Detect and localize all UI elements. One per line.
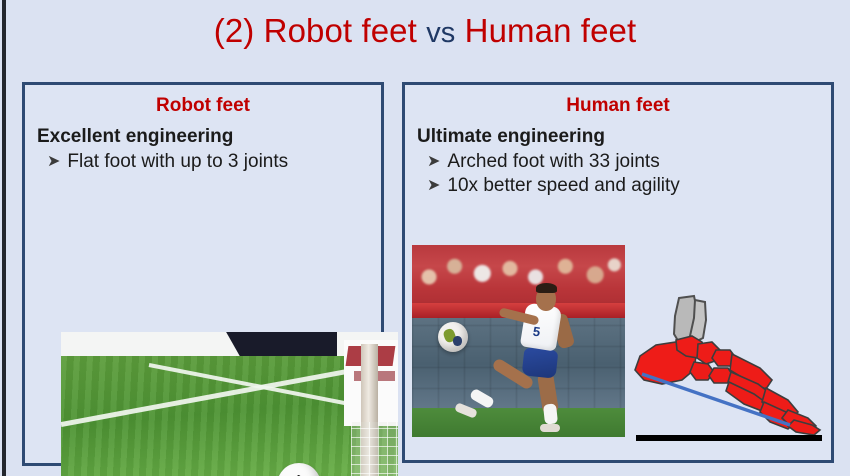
panel-human-heading: Human feet bbox=[405, 95, 831, 117]
arrow-bullet-icon: ➤ bbox=[47, 154, 60, 170]
panel-robot-subheading: Excellent engineering bbox=[37, 126, 381, 148]
slide-edge-strip bbox=[2, 0, 6, 476]
goal-net bbox=[351, 422, 398, 476]
title-vs: vs bbox=[426, 17, 455, 49]
player-boot-back bbox=[540, 424, 560, 432]
panel-robot-heading: Robot feet bbox=[25, 95, 381, 117]
list-item: ➤ Flat foot with up to 3 joints bbox=[47, 151, 381, 173]
robot-soccer-photo bbox=[61, 332, 398, 476]
list-item-label: Arched foot with 33 joints bbox=[447, 151, 659, 173]
foot-skeleton-diagram bbox=[632, 292, 828, 448]
phalanx-bones bbox=[760, 388, 820, 435]
soccer-player-photo: 5 bbox=[412, 245, 625, 437]
panel-robot-feet: Robot feet Excellent engineering ➤ Flat … bbox=[22, 82, 384, 466]
arrow-bullet-icon: ➤ bbox=[427, 178, 440, 194]
human-bullet-list: ➤ Arched foot with 33 joints ➤ 10x bette… bbox=[405, 151, 831, 197]
list-item: ➤ Arched foot with 33 joints bbox=[427, 151, 831, 173]
title-prefix: (2) Robot feet bbox=[214, 12, 426, 49]
arrow-bullet-icon: ➤ bbox=[427, 154, 440, 170]
player-sock-back bbox=[543, 404, 558, 425]
page-title: (2) Robot feet vs Human feet bbox=[0, 12, 850, 50]
pitch-grass bbox=[412, 408, 625, 437]
player-shorts bbox=[521, 347, 558, 378]
slide-canvas: (2) Robot feet vs Human feet Robot feet … bbox=[0, 0, 850, 476]
list-item: ➤ 10x better speed and agility bbox=[427, 175, 831, 197]
ground-line bbox=[636, 435, 822, 441]
list-item-label: Flat foot with up to 3 joints bbox=[67, 151, 288, 173]
soccer-ball bbox=[438, 322, 468, 352]
list-item-label: 10x better speed and agility bbox=[447, 175, 679, 197]
robot-bullet-list: ➤ Flat foot with up to 3 joints bbox=[25, 151, 381, 173]
title-suffix: Human feet bbox=[455, 12, 636, 49]
player-hair bbox=[536, 283, 557, 293]
panel-human-subheading: Ultimate engineering bbox=[417, 126, 831, 148]
